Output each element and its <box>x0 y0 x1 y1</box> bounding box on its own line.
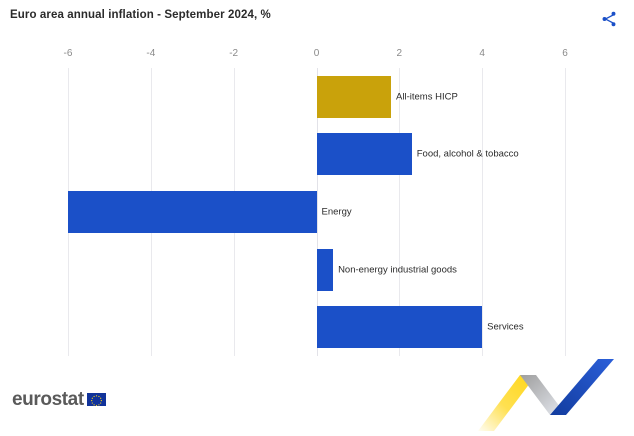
chart-header: Euro area annual inflation - September 2… <box>0 0 634 46</box>
x-tick-label: 0 <box>314 48 320 59</box>
x-tick-label: -2 <box>229 48 238 59</box>
bar[interactable] <box>317 133 412 175</box>
x-tick-label: -6 <box>64 48 73 59</box>
x-tick-label: 6 <box>562 48 568 59</box>
bar-category-label: Services <box>487 322 523 333</box>
bar-row: Energy <box>0 191 634 233</box>
eurostat-zigzag-graphic <box>474 359 614 431</box>
eurostat-wordmark: eurostat <box>12 390 84 409</box>
bar-category-label: All-items HICP <box>396 91 458 102</box>
eu-flag-icon <box>87 393 106 406</box>
chart-plot-area: -6-4-20246 All-items HICPFood, alcohol &… <box>0 46 634 356</box>
chart-grid-and-bars: All-items HICPFood, alcohol & tobaccoEne… <box>0 68 634 356</box>
bar[interactable] <box>317 249 334 291</box>
share-icon[interactable] <box>600 10 618 28</box>
x-tick-label: 4 <box>479 48 485 59</box>
bar[interactable] <box>317 306 483 348</box>
bar-row: Services <box>0 306 634 348</box>
x-tick-label: -4 <box>146 48 155 59</box>
bar-row: Non-energy industrial goods <box>0 249 634 291</box>
bar-category-label: Energy <box>322 207 352 218</box>
bar-row: Food, alcohol & tobacco <box>0 133 634 175</box>
x-tick-label: 2 <box>397 48 403 59</box>
chart-footer: eurostat <box>0 356 634 431</box>
bar-category-label: Non-energy industrial goods <box>338 264 457 275</box>
page-title: Euro area annual inflation - September 2… <box>10 9 271 21</box>
bar-row: All-items HICP <box>0 76 634 118</box>
bar[interactable] <box>317 76 392 118</box>
x-axis: -6-4-20246 <box>0 46 634 68</box>
eurostat-logo: eurostat <box>12 390 106 409</box>
bar-category-label: Food, alcohol & tobacco <box>417 149 519 160</box>
bar[interactable] <box>68 191 317 233</box>
